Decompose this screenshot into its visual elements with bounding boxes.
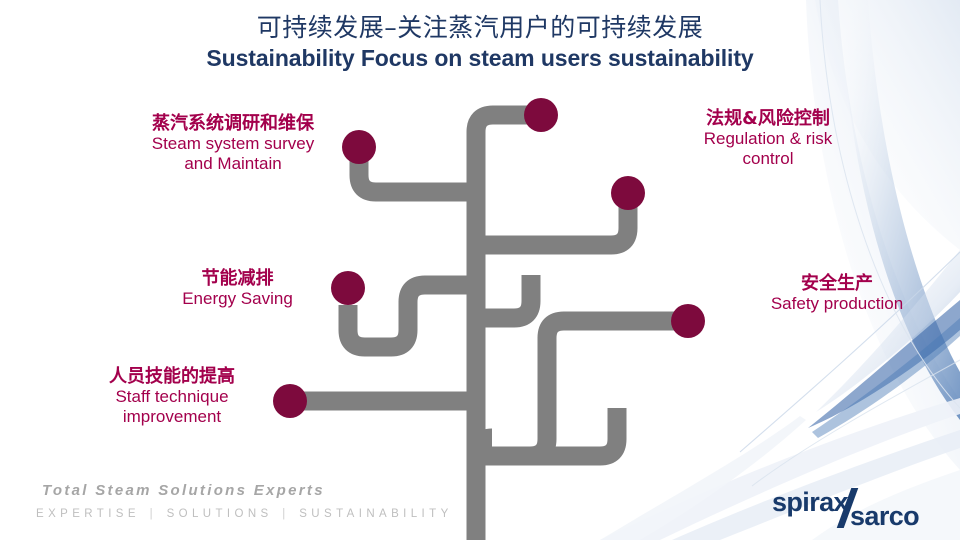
branch-to-steam-survey <box>359 147 476 192</box>
spirax-sarco-logo: spirax sarco <box>772 487 950 531</box>
label-staff-chinese: 人员技能的提高 <box>62 366 282 387</box>
node-steam-survey[interactable] <box>342 130 376 164</box>
label-steam-system-survey: 蒸汽系统调研和维保 Steam system survey and Mainta… <box>120 113 346 174</box>
label-steam-survey-english-line2: and Maintain <box>120 154 346 174</box>
branch-to-safety <box>476 321 688 456</box>
branch-to-energy <box>348 285 476 347</box>
label-safety-chinese: 安全生产 <box>720 273 954 294</box>
footer-pillar-expertise: EXPERTISE <box>36 508 140 520</box>
footer-separator-2: | <box>280 508 291 520</box>
label-staff-technique-improvement: 人员技能的提高 Staff technique improvement <box>62 366 282 427</box>
footer-pillar-solutions: SOLUTIONS <box>167 508 273 520</box>
label-regulation-risk-control: 法规&风险控制 Regulation & risk control <box>668 108 868 169</box>
node-safety[interactable] <box>671 304 705 338</box>
label-staff-english-line2: improvement <box>62 407 282 427</box>
footer-pillars: EXPERTISE | SOLUTIONS | SUSTAINABILITY <box>36 508 453 520</box>
logo-word-sarco: sarco <box>850 501 919 532</box>
slide-canvas: 可持续发展–关注蒸汽用户的可持续发展 Sustainability Focus … <box>0 0 960 540</box>
label-safety-production: 安全生产 Safety production <box>720 273 954 314</box>
footer-separator-1: | <box>148 508 159 520</box>
label-steam-survey-chinese: 蒸汽系统调研和维保 <box>120 113 346 134</box>
label-regulation-english-line1: Regulation & risk <box>668 129 868 149</box>
node-regulation[interactable] <box>611 176 645 210</box>
node-top-center[interactable] <box>524 98 558 132</box>
label-energy-english-line1: Energy Saving <box>130 289 345 309</box>
label-regulation-english-line2: control <box>668 149 868 169</box>
label-energy-saving: 节能减排 Energy Saving <box>130 268 345 309</box>
label-steam-survey-english-line1: Steam system survey <box>120 134 346 154</box>
label-regulation-chinese: 法规&风险控制 <box>668 108 868 129</box>
label-staff-english-line1: Staff technique <box>62 387 282 407</box>
branch-to-regulation <box>476 193 628 245</box>
footer-tagline: Total Steam Solutions Experts <box>42 482 325 499</box>
label-safety-english-line1: Safety production <box>720 294 954 314</box>
label-energy-chinese: 节能减排 <box>130 268 345 289</box>
footer-pillar-sustainability: SUSTAINABILITY <box>299 508 452 520</box>
logo-word-spirax: spirax <box>772 487 848 518</box>
